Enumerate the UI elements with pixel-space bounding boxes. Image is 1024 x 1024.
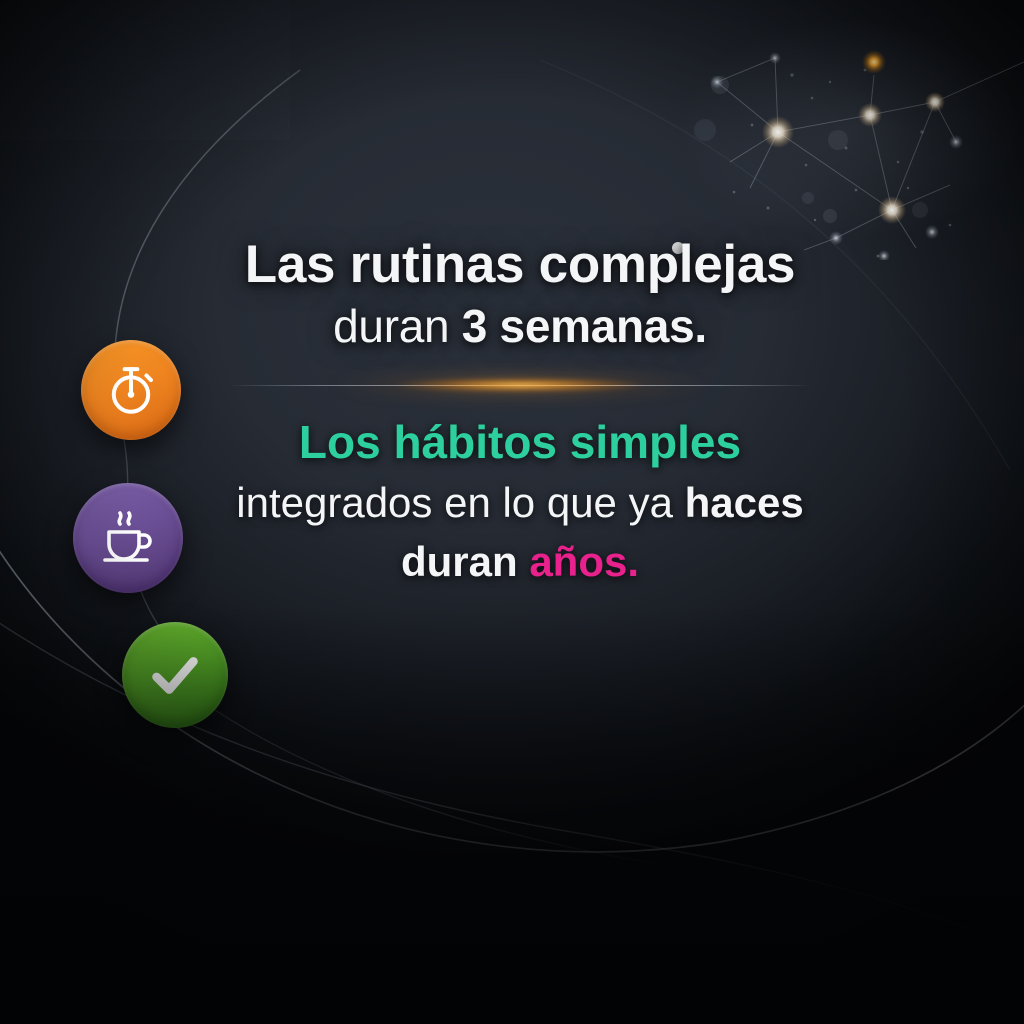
subhead-line-2-bold: haces: [685, 479, 804, 526]
glowing-divider: [200, 384, 840, 387]
badge-coffee[interactable]: [73, 483, 183, 593]
subhead-line-2: integrados en lo que ya haces: [200, 477, 840, 528]
message-block: Las rutinas complejas duran 3 semanas. L…: [200, 236, 840, 588]
subhead-line-3: duran años.: [200, 536, 840, 587]
stopwatch-icon: [102, 361, 160, 419]
divider-core-glow: [355, 375, 685, 395]
subhead-teal: Los hábitos simples: [200, 417, 840, 468]
headline-line-2-regular: duran: [333, 300, 462, 352]
headline-line-2-bold: 3 semanas.: [462, 300, 707, 352]
subhead-line-3-regular: duran: [401, 538, 529, 585]
badge-check[interactable]: [122, 622, 228, 728]
poster-canvas: Las rutinas complejas duran 3 semanas. L…: [0, 0, 1024, 1024]
checkmark-icon: [144, 644, 206, 706]
headline-line-2: duran 3 semanas.: [200, 299, 840, 353]
badge-timer[interactable]: [81, 340, 181, 440]
noise-texture: [0, 0, 290, 140]
subhead-line-3-accent: años.: [529, 538, 639, 585]
subhead-line-2-regular: integrados en lo que ya: [236, 479, 684, 526]
network-constellation: [660, 20, 1024, 260]
coffee-cup-icon: [96, 506, 160, 570]
headline-line-1: Las rutinas complejas: [200, 236, 840, 293]
